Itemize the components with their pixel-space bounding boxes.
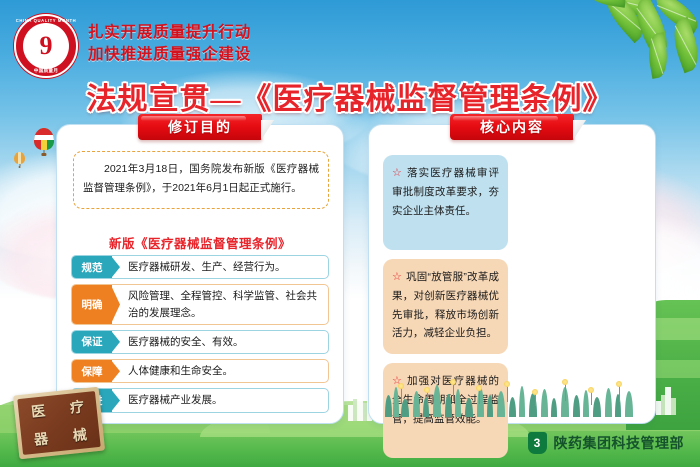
- purpose-row-tag: 保证: [72, 331, 112, 353]
- slogan-line-2: 加快推进质量强企建设: [88, 44, 251, 66]
- logo-glyph: 9: [40, 33, 53, 59]
- footer-attribution: 3 陕药集团科技管理部: [528, 432, 685, 454]
- ribbon-fold-icon: [573, 120, 586, 140]
- star-icon: ☆: [392, 271, 402, 283]
- purpose-row: 规范 医疗器械研发、生产、经营行为。: [71, 255, 329, 279]
- shaanxi-pharma-shield-logo-icon: 3: [528, 432, 547, 454]
- dandelion-icon: [562, 379, 568, 385]
- purpose-row-text: 医疗器械的安全、有效。: [112, 331, 328, 353]
- core-content-card: ☆巩固“放管服”改革成果，对创新医疗器械优先审批，释放市场创新活力，减轻企业负担…: [383, 259, 508, 354]
- dandelion-icon: [450, 379, 456, 385]
- city-skyline-icon: [656, 385, 680, 415]
- seal-char: 医: [30, 400, 46, 421]
- panel-revision-purpose: 修订目的 2021年3月18日，国务院发布新版《医疗器械监督管理条例》，于202…: [56, 124, 344, 424]
- dandelion-icon: [398, 383, 404, 389]
- footer-text: 陕药集团科技管理部: [554, 433, 685, 453]
- hot-air-balloon-icon: [34, 128, 54, 156]
- seal-char: 械: [72, 424, 88, 445]
- purpose-row: 促进 医疗器械产业发展。: [71, 388, 329, 412]
- dandelion-icon: [424, 387, 430, 393]
- purpose-row-text: 医疗器械研发、生产、经营行为。: [112, 256, 328, 278]
- right-panel-ribbon-header: 核心内容: [450, 114, 574, 140]
- dandelion-icon: [616, 381, 622, 387]
- campaign-slogan: 扎实开展质量提升行动 加快推进质量强企建设: [88, 22, 251, 67]
- purpose-row: 明确 风险管理、全程管控、科学监管、社会共治的发展理念。: [71, 284, 329, 325]
- purpose-row-tag: 保障: [72, 360, 112, 382]
- page-title: 法规宣贯—《医疗器械监督管理条例》: [0, 74, 700, 118]
- panel-core-content: 核心内容 ☆落实医疗器械审评审批制度改革要求，夯实企业主体责任。 ☆巩固“放管服…: [368, 124, 656, 424]
- left-panel-subtitle: 新版《医疗器械监督管理条例》: [57, 233, 343, 252]
- left-panel-ribbon-header: 修订目的: [138, 114, 262, 140]
- left-panel-ribbon-label: 修订目的: [168, 117, 232, 137]
- poster-canvas: CHINA QUALITY MONTH 9 中国质量月 扎实开展质量提升行动 加…: [0, 0, 700, 467]
- dandelion-icon: [588, 387, 594, 393]
- footer-logo-glyph: 3: [534, 436, 541, 450]
- ribbon-fold-icon: [261, 120, 274, 140]
- slogan-line-1: 扎实开展质量提升行动: [88, 22, 251, 44]
- star-icon: ☆: [392, 167, 403, 179]
- purpose-row-text: 风险管理、全程管控、科学监管、社会共治的发展理念。: [112, 285, 328, 324]
- china-quality-month-emblem-icon: CHINA QUALITY MONTH 9 中国质量月: [14, 14, 78, 78]
- right-panel-ribbon-label: 核心内容: [480, 117, 544, 137]
- purpose-row-text: 人体健康和生命安全。: [112, 360, 328, 382]
- balloon-basket: [18, 166, 21, 168]
- dandelion-icon: [504, 381, 510, 387]
- purpose-row-list: 规范 医疗器械研发、生产、经营行为。 明确 风险管理、全程管控、科学监管、社会共…: [71, 255, 329, 418]
- seal-char: 器: [33, 428, 49, 449]
- purpose-row: 保证 医疗器械的安全、有效。: [71, 330, 329, 354]
- core-content-card: ☆落实医疗器械审评审批制度改革要求，夯实企业主体责任。: [383, 155, 508, 250]
- purpose-row-tag: 明确: [72, 285, 112, 324]
- core-content-card-text: 落实医疗器械审评审批制度改革要求，夯实企业主体责任。: [392, 167, 499, 217]
- core-content-card-text: 巩固“放管服”改革成果，对创新医疗器械优先审批，释放市场创新活力，减轻企业负担。: [392, 271, 499, 339]
- seal-char: 疗: [69, 396, 85, 417]
- revision-note-box: 2021年3月18日，国务院发布新版《医疗器械监督管理条例》，于2021年6月1…: [73, 151, 329, 209]
- hot-air-balloon-icon: [14, 152, 25, 168]
- balloon-basket: [41, 153, 46, 156]
- grass-with-dandelions-icon: [379, 373, 645, 417]
- purpose-row-text: 医疗器械产业发展。: [112, 389, 328, 411]
- dandelion-icon: [476, 385, 482, 391]
- carved-stone-seal-icon: 医 疗 器 械: [13, 387, 105, 460]
- purpose-row-tag: 规范: [72, 256, 112, 278]
- core-content-card-grid: ☆落实医疗器械审评审批制度改革要求，夯实企业主体责任。 ☆巩固“放管服”改革成果…: [383, 155, 641, 467]
- purpose-row: 保障 人体健康和生命安全。: [71, 359, 329, 383]
- dandelion-icon: [532, 389, 538, 395]
